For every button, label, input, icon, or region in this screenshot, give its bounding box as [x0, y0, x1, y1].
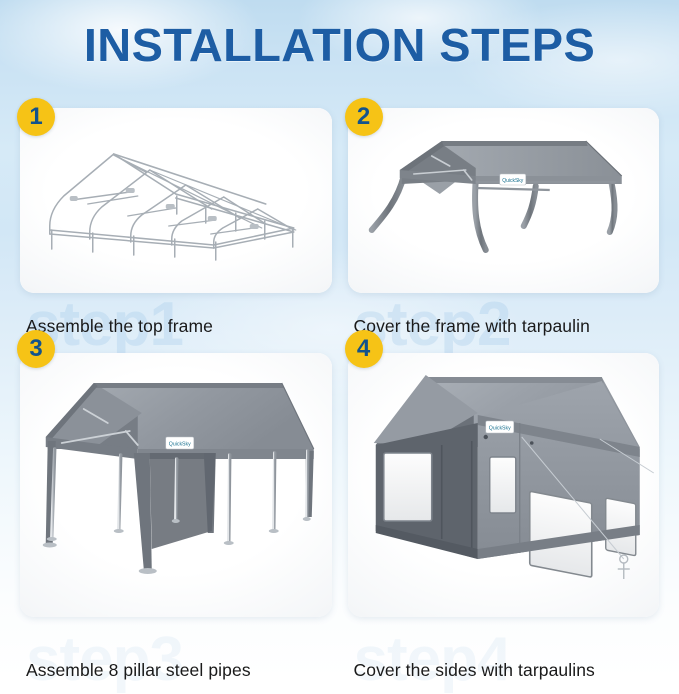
step-item-3: step3 — [20, 340, 332, 679]
installation-steps-grid: step1 — [0, 108, 679, 679]
step-card-4[interactable]: QuickSky — [348, 353, 660, 617]
step-item-4: step4 — [348, 340, 660, 679]
step-illustration-1 — [20, 108, 332, 293]
step-badge-4: 4 — [345, 330, 383, 368]
page-header: INSTALLATION STEPS — [0, 22, 679, 68]
step-caption-3: Assemble 8 pillar steel pipes — [26, 660, 251, 681]
step-caption-2: Cover the frame with tarpaulin — [354, 316, 590, 337]
svg-text:QuickSky: QuickSky — [488, 426, 510, 432]
step-illustration-2: QuickSky — [348, 108, 660, 293]
step-caption-1: Assemble the top frame — [26, 316, 213, 337]
page-root: INSTALLATION STEPS step1 — [0, 0, 679, 679]
svg-text:QuickSky: QuickSky — [169, 442, 191, 448]
svg-text:QuickSky: QuickSky — [502, 178, 524, 184]
step-badge-1: 1 — [17, 98, 55, 136]
step-illustration-3: QuickSky — [20, 353, 332, 617]
step-illustration-4: QuickSky — [348, 353, 660, 617]
step-badge-3: 3 — [17, 330, 55, 368]
step-card-3[interactable]: QuickSky — [20, 353, 332, 617]
step-card-1[interactable] — [20, 108, 332, 293]
step-item-2: step2 — [348, 108, 660, 340]
step-caption-4: Cover the sides with tarpaulins — [354, 660, 595, 681]
step-card-2[interactable]: QuickSky — [348, 108, 660, 293]
page-title: INSTALLATION STEPS — [0, 22, 679, 68]
step-item-1: step1 — [20, 108, 332, 340]
step-badge-2: 2 — [345, 98, 383, 136]
